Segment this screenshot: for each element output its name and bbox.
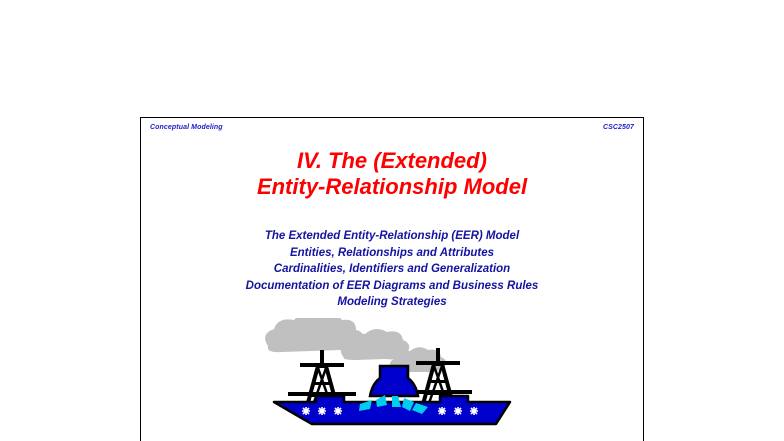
title-line-2: Entity-Relationship Model — [141, 174, 643, 200]
header-course-code: CSC2507 — [603, 123, 634, 132]
subtitle-line-1: The Extended Entity-Relationship (EER) M… — [141, 228, 643, 245]
subtitle-line-3: Cardinalities, Identifiers and Generaliz… — [141, 261, 643, 278]
presentation-slide: Conceptual Modeling CSC2507 IV. The (Ext… — [140, 117, 644, 441]
porthole-group-right — [438, 407, 478, 415]
header-course-topic: Conceptual Modeling — [150, 123, 223, 132]
slide-title: IV. The (Extended) Entity-Relationship M… — [141, 148, 643, 200]
battleship-icon — [252, 318, 532, 441]
porthole-group-left — [302, 407, 342, 415]
subtitle-line-2: Entities, Relationships and Attributes — [141, 245, 643, 262]
screenshot-canvas: Conceptual Modeling CSC2507 IV. The (Ext… — [0, 0, 784, 441]
slide-header: Conceptual Modeling CSC2507 — [141, 118, 643, 142]
subtitle-line-5: Modeling Strategies — [141, 294, 643, 311]
title-line-1: IV. The (Extended) — [141, 148, 643, 174]
slide-subtitle-list: The Extended Entity-Relationship (EER) M… — [141, 228, 643, 311]
subtitle-line-4: Documentation of EER Diagrams and Busine… — [141, 278, 643, 295]
